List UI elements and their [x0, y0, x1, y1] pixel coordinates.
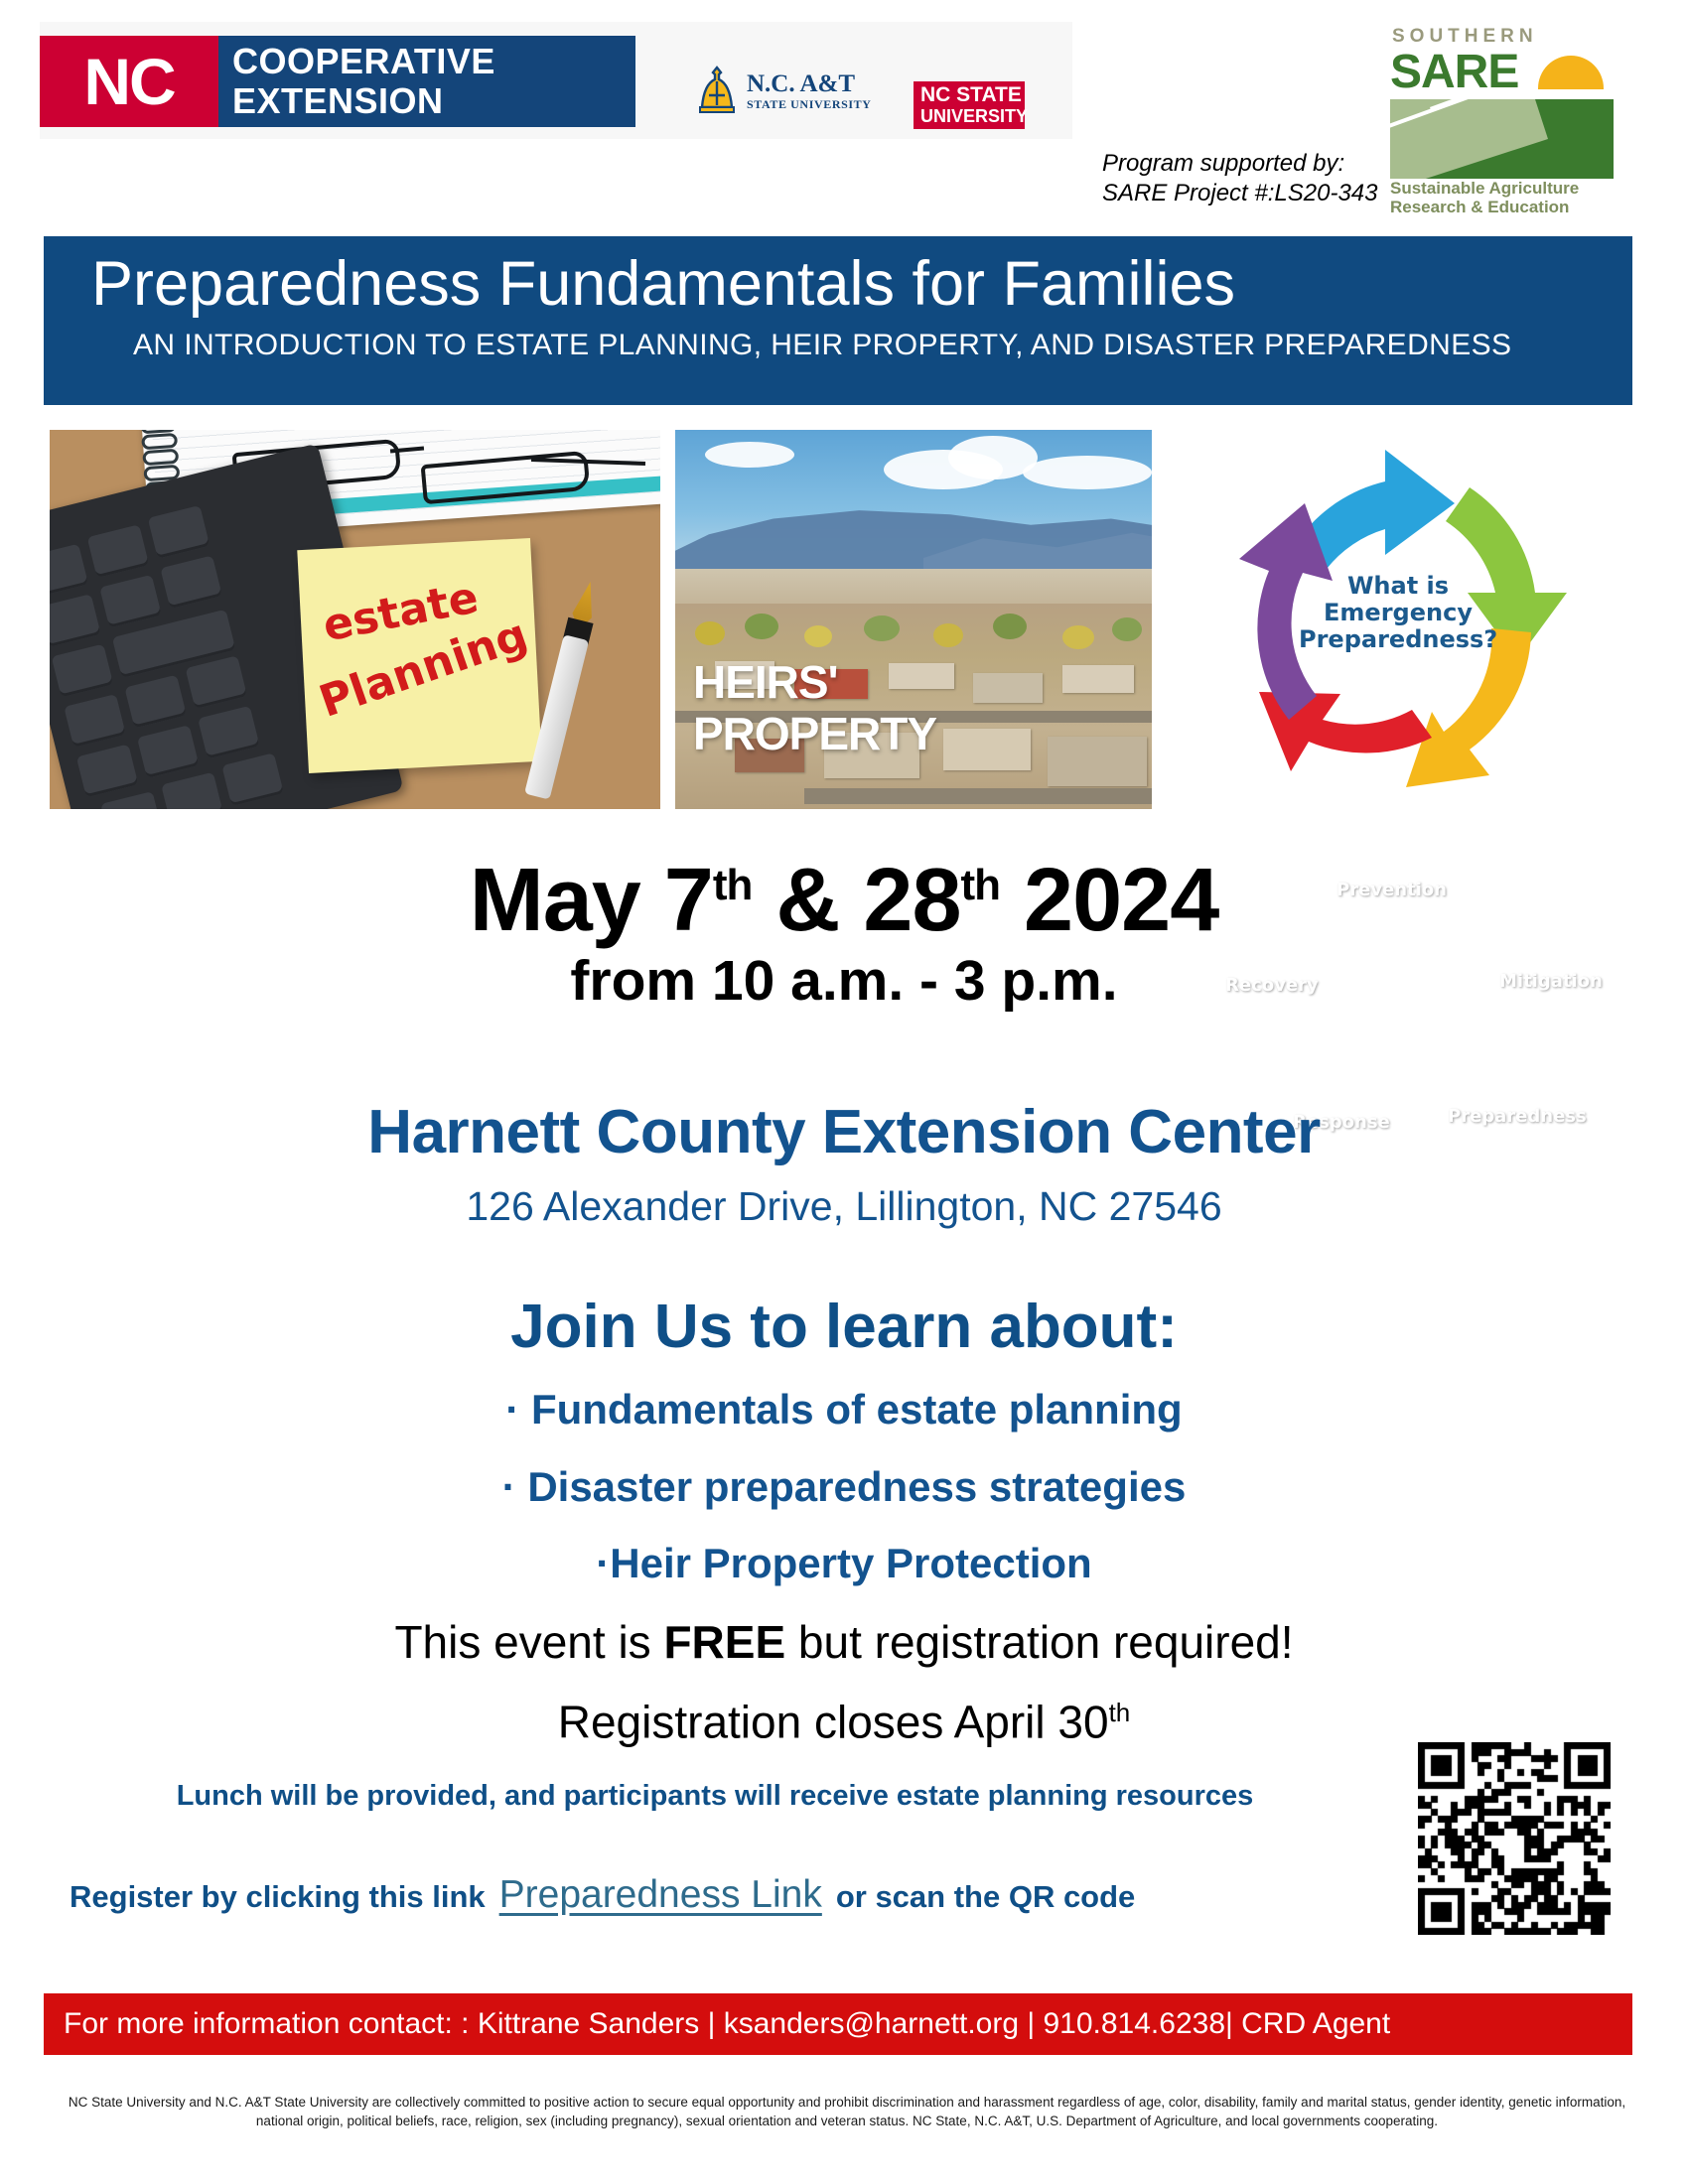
nc-at-sub: STATE UNIVERSITY: [747, 97, 872, 111]
aggie-bell-icon: [695, 66, 739, 117]
nc-cooperative-extension-logo: NC COOPERATIVE EXTENSION: [40, 36, 635, 127]
register-suffix-text: or scan the QR code: [836, 1876, 1135, 1918]
venue-name: Harnett County Extension Center: [0, 1097, 1688, 1168]
nc-extension-wordmark: COOPERATIVE EXTENSION: [218, 36, 635, 127]
join-bullet-1: · Fundamentals of estate planning: [0, 1384, 1688, 1435]
nc-at-name: N.C. A&T: [747, 71, 872, 97]
sticky-note: estate Planning: [297, 538, 541, 773]
qr-code[interactable]: [1418, 1742, 1611, 1935]
emergency-preparedness-cycle-diagram: Prevention Mitigation Preparedness Respo…: [1182, 422, 1618, 819]
cycle-center-question: What is Emergency Preparedness?: [1299, 573, 1497, 653]
register-prefix-text: Register by clicking this link: [70, 1876, 486, 1918]
program-support-note: Program supported by: SARE Project #:LS2…: [1102, 149, 1378, 208]
sare-southern-text: SOUTHERN: [1390, 26, 1614, 48]
legal-disclaimer: NC State University and N.C. A&T State U…: [48, 2093, 1646, 2130]
sare-caption-line1: Sustainable Agriculture: [1390, 179, 1623, 198]
nc-at-wordmark: N.C. A&T STATE UNIVERSITY: [747, 71, 872, 111]
nc-extension-line2: EXTENSION: [232, 81, 635, 121]
qr-code-canvas[interactable]: [1418, 1742, 1611, 1935]
join-us-heading: Join Us to learn about:: [0, 1291, 1688, 1364]
estate-planning-photo: estate Planning: [50, 430, 660, 809]
registration-close-ordinal: th: [1109, 1698, 1131, 1727]
page-title: Preparedness Fundamentals for Families: [91, 244, 1235, 324]
cycle-center-line1: What is: [1299, 573, 1497, 600]
nc-state-line2: UNIVERSITY: [920, 106, 1025, 126]
disclaimer-line-1: NC State University and N.C. A&T State U…: [48, 2093, 1646, 2112]
contact-text: For more information contact: : Kittrane…: [64, 2005, 1390, 2043]
register-instructions: Register by clicking this link Preparedn…: [70, 1874, 1390, 1918]
event-date-mid: & 28: [752, 851, 960, 950]
disclaimer-line-2: national origin, political beliefs, race…: [48, 2112, 1646, 2130]
support-line-1: Program supported by:: [1102, 149, 1378, 179]
contact-bar: For more information contact: : Kittrane…: [44, 1993, 1632, 2055]
image-row: estate Planning: [0, 422, 1688, 819]
nc-state-university-logo: NC STATE UNIVERSITY: [914, 81, 1025, 129]
sare-wordmark-row: SARE: [1390, 48, 1614, 99]
cycle-arrow-prevention: [1299, 450, 1455, 569]
event-date-ordinal-1: th: [713, 861, 753, 909]
page-header: NC COOPERATIVE EXTENSION N.C. A&T STATE …: [0, 0, 1688, 228]
nc-at-state-university-logo: N.C. A&T STATE UNIVERSITY: [695, 66, 872, 117]
join-bullet-3: ·Heir Property Protection: [0, 1538, 1688, 1589]
registration-close-text: Registration closes April 30: [558, 1696, 1109, 1747]
event-date-year: 2024: [1000, 851, 1218, 950]
page-subtitle: AN INTRODUCTION TO ESTATE PLANNING, HEIR…: [133, 328, 1511, 363]
heirs-label-line2: PROPERTY: [693, 708, 936, 759]
heirs-label-line1: HEIRS': [693, 656, 936, 708]
venue-address: 126 Alexander Drive, Lillington, NC 2754…: [0, 1181, 1688, 1231]
sare-caption-line2: Research & Education: [1390, 198, 1623, 216]
partner-logo-strip: NC COOPERATIVE EXTENSION N.C. A&T STATE …: [40, 22, 1072, 139]
free-note-suffix: but registration required!: [785, 1616, 1293, 1668]
preparedness-registration-link[interactable]: Preparedness Link: [499, 1874, 822, 1916]
title-banner: Preparedness Fundamentals for Families A…: [44, 236, 1632, 405]
event-date: May 7th & 28th 2024: [0, 834, 1688, 952]
southern-sare-logo: SOUTHERN SARE Sustainable Agriculture Re…: [1390, 26, 1614, 216]
heirs-property-overlay-label: HEIRS' PROPERTY: [693, 656, 936, 759]
free-note-prefix: This event is: [394, 1616, 663, 1668]
free-keyword: FREE: [663, 1616, 785, 1668]
cycle-center-line2: Emergency: [1299, 600, 1497, 626]
sare-field-graphic: [1390, 99, 1614, 179]
nc-monogram: NC: [40, 36, 218, 127]
heirs-property-photo: HEIRS' PROPERTY: [675, 430, 1152, 809]
nc-state-line1: NC STATE: [920, 84, 1025, 106]
registration-close-note: Registration closes April 30th: [0, 1685, 1688, 1749]
event-time: from 10 a.m. - 3 p.m.: [0, 948, 1688, 1014]
lunch-note: Lunch will be provided, and participants…: [0, 1777, 1430, 1815]
support-line-2: SARE Project #:LS20-343: [1102, 179, 1378, 208]
cycle-center-line3: Preparedness?: [1299, 626, 1497, 653]
event-date-ordinal-2: th: [961, 861, 1001, 909]
event-date-prefix: May 7: [470, 851, 713, 950]
join-bullet-2: · Disaster preparedness strategies: [0, 1461, 1688, 1513]
free-event-note: This event is FREE but registration requ…: [0, 1614, 1688, 1670]
nc-extension-line1: COOPERATIVE: [232, 42, 635, 81]
